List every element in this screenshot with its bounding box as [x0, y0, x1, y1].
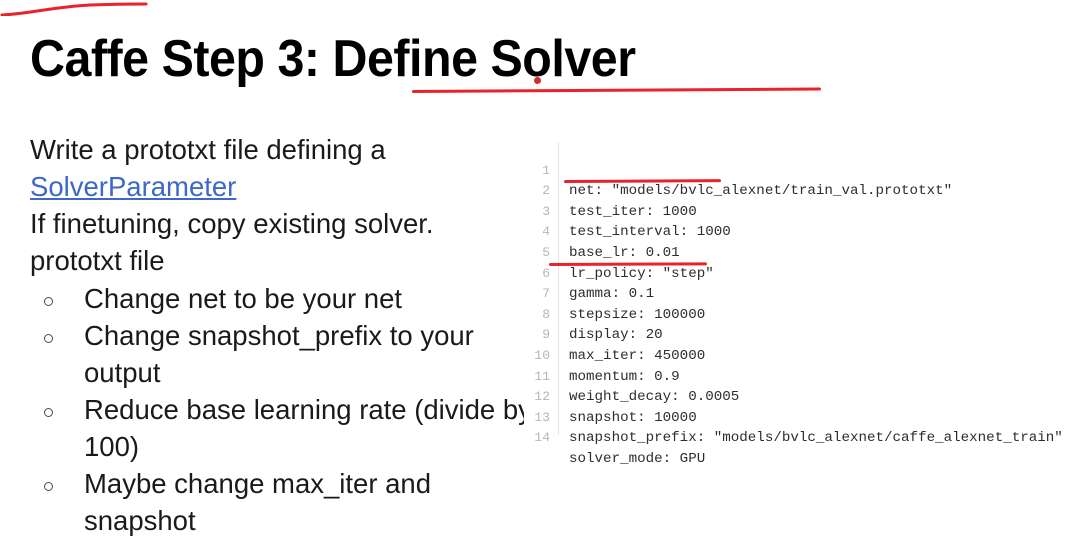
list-item: Change net to be your net [30, 280, 540, 317]
list-item-label: Change net to be your net [84, 280, 540, 317]
list-item: Reduce base learning rate (divide by 100… [30, 391, 540, 465]
annotation-stroke-svg [0, 0, 148, 16]
code-line: 11 weight_decay: 0.0005 [524, 346, 1077, 367]
code-line: 4 base_lr: 0.01 [524, 202, 1077, 223]
line-number: 14 [524, 428, 550, 449]
list-item-label: Change snapshot_prefix to your output [84, 317, 540, 391]
bullet-circle-icon [30, 465, 84, 496]
code-line: 9 max_iter: 450000 [524, 305, 1077, 326]
code-line: 13 snapshot_prefix: "models/bvlc_alexnet… [524, 387, 1077, 408]
list-item: Change snapshot_prefix to your output [30, 317, 540, 391]
code-line: 5 lr_policy: "step" [524, 222, 1077, 243]
body-text-block: Write a prototxt file defining a SolverP… [30, 131, 510, 279]
code-line: 12 snapshot: 10000 [524, 367, 1077, 388]
list-item-label: Reduce base learning rate (divide by 100… [84, 391, 540, 465]
code-line: 6 gamma: 0.1 [524, 243, 1077, 264]
code-line-text: solver_mode: GPU [569, 449, 705, 470]
cursor-dot-artifact [534, 77, 541, 84]
code-line: 8 display: 20 [524, 284, 1077, 305]
bullet-list: Change net to be your net Change snapsho… [30, 280, 540, 539]
page-title: Caffe Step 3: Define Solver [30, 28, 636, 90]
slide-canvas: Caffe Step 3: Define Solver Write a prot… [0, 0, 1077, 549]
code-line: 7 stepsize: 100000 [524, 264, 1077, 285]
body-paragraph-2: If finetuning, copy existing solver. pro… [30, 205, 510, 279]
list-item-label: Maybe change max_iter and snapshot [84, 465, 540, 539]
code-line: 1 net: "models/bvlc_alexnet/train_val.pr… [524, 140, 1077, 161]
body-paragraph-1-text: Write a prototxt file defining a [30, 134, 393, 165]
code-line-text: snapshot_prefix: "models/bvlc_alexnet/ca… [569, 428, 1063, 449]
bullet-circle-icon [30, 391, 84, 422]
body-paragraph-1: Write a prototxt file defining a SolverP… [30, 131, 510, 205]
code-line: 14 solver_mode: GPU [524, 408, 1077, 429]
code-line: 2 test_iter: 1000 [524, 161, 1077, 182]
code-line: 10 momentum: 0.9 [524, 325, 1077, 346]
code-line: 3 test_interval: 1000 [524, 181, 1077, 202]
bullet-circle-icon [30, 317, 84, 348]
code-block: 1 net: "models/bvlc_alexnet/train_val.pr… [524, 140, 1077, 440]
bullet-circle-icon [30, 280, 84, 311]
solver-parameter-link[interactable]: SolverParameter [30, 171, 236, 202]
list-item: Maybe change max_iter and snapshot [30, 465, 540, 539]
annotation-underline-base-lr [0, 0, 148, 16]
